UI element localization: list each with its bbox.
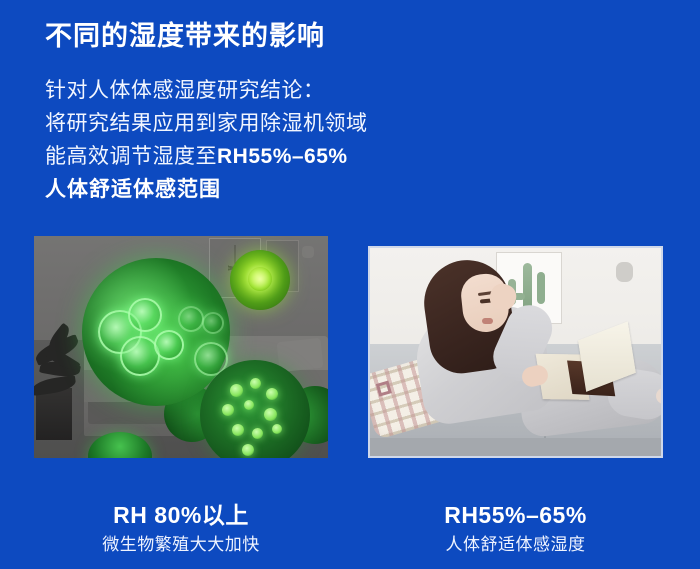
bright-room-scene	[370, 248, 661, 456]
microbe-spore	[242, 444, 254, 456]
microbe-spore	[272, 424, 282, 434]
dim-room-scene	[34, 236, 328, 458]
intro-line-3: 能高效调节湿度至RH55%–65%	[45, 140, 368, 173]
intro-line-2: 将研究结果应用到家用除湿机领域	[45, 107, 368, 140]
caption-sub-text: 人体舒适体感湿度	[368, 532, 663, 558]
microbe-large-icon	[82, 258, 230, 406]
woman-lips	[482, 318, 493, 324]
caption-comfort-humidity: RH55%–65% 人体舒适体感湿度	[368, 500, 663, 558]
photo-comfort-humidity	[368, 246, 663, 458]
microbe-spore	[232, 424, 244, 436]
photo-panels	[0, 236, 700, 460]
microbe-spore	[222, 404, 234, 416]
microbe-small-icon	[230, 250, 290, 310]
microbe-spore	[266, 388, 278, 400]
microbe-spore	[250, 378, 261, 389]
caption-main-text: RH 80%以上	[34, 500, 328, 530]
microbe-cell	[154, 330, 184, 360]
pillow-motif	[376, 381, 392, 397]
microbe-cell	[128, 298, 162, 332]
humidity-range-highlight: RH55%–65%	[217, 145, 348, 168]
microbe-spore	[252, 428, 263, 439]
intro-line-1: 针对人体体感湿度研究结论：	[45, 74, 368, 107]
microbe-spore	[230, 384, 243, 397]
microbe-cell	[178, 306, 204, 332]
caption-sub-text: 微生物繁殖大大加快	[34, 532, 328, 558]
microbe-spore	[244, 400, 254, 410]
wall-knob-icon	[616, 262, 633, 282]
intro-paragraph: 针对人体体感湿度研究结论： 将研究结果应用到家用除湿机领域 能高效调节湿度至RH…	[45, 74, 368, 206]
photo-high-humidity	[34, 236, 328, 458]
caption-high-humidity: RH 80%以上 微生物繁殖大大加快	[34, 500, 328, 558]
microbe-spore	[264, 408, 277, 421]
microbe-cell	[202, 312, 224, 334]
sofa-base	[370, 438, 661, 458]
caption-main-text: RH55%–65%	[368, 500, 663, 530]
intro-line-4: 人体舒适体感范围	[45, 173, 368, 206]
plant-pot	[36, 388, 72, 440]
page-title: 不同的湿度带来的影响	[45, 19, 325, 53]
intro-line-3-prefix: 能高效调节湿度至	[45, 145, 217, 168]
wall-knob-icon	[302, 246, 314, 258]
